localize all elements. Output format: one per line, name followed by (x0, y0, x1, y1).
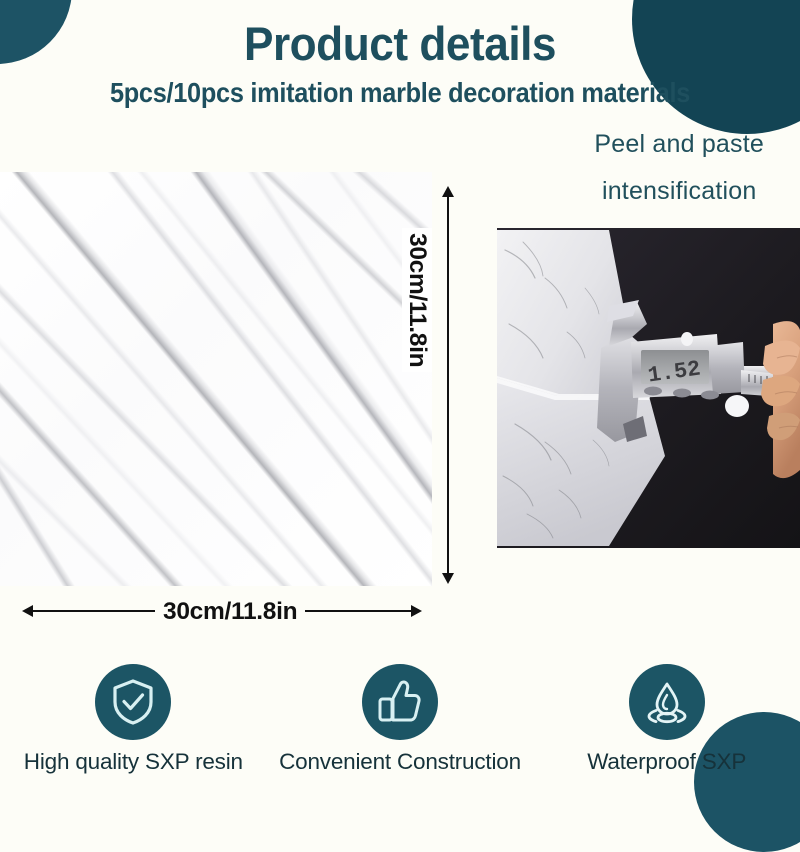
feature-icon-circle (629, 664, 705, 740)
arrow-head-right-icon (411, 605, 422, 617)
dimension-arrow-vertical (447, 186, 449, 584)
caliper-photo-illustration: 1.52 (497, 228, 800, 548)
marble-texture-swatch (0, 172, 432, 586)
water-drop-icon (642, 679, 692, 725)
dimension-label-width: 30cm/11.8in (155, 598, 305, 626)
feature-icon-circle (362, 664, 438, 740)
tagline: Peel and paste intensification (594, 121, 764, 215)
feature-icon-circle (95, 664, 171, 740)
feature-label: Convenient Construction (279, 749, 521, 775)
dimension-line-vertical (447, 194, 449, 576)
tagline-line-2: intensification (594, 168, 764, 215)
feature-item-waterproof: Waterproof SXP (533, 664, 800, 775)
feature-label: Waterproof SXP (587, 749, 746, 775)
page-title: Product details (24, 0, 776, 71)
feature-item-quality: High quality SXP resin (0, 664, 267, 775)
dimension-label-height: 30cm/11.8in (402, 228, 432, 372)
page-subtitle: 5pcs/10pcs imitation marble decoration m… (32, 71, 768, 109)
feature-item-construction: Convenient Construction (267, 664, 534, 775)
header: Product details 5pcs/10pcs imitation mar… (0, 0, 800, 109)
tagline-line-1: Peel and paste (594, 121, 764, 168)
thumbs-up-icon (376, 679, 424, 725)
caliper-photo: 1.52 (497, 228, 800, 548)
shield-check-icon (110, 678, 156, 726)
arrow-head-down-icon (442, 573, 454, 584)
feature-label: High quality SXP resin (24, 749, 243, 775)
feature-list: High quality SXP resin Convenient Constr… (0, 664, 800, 794)
